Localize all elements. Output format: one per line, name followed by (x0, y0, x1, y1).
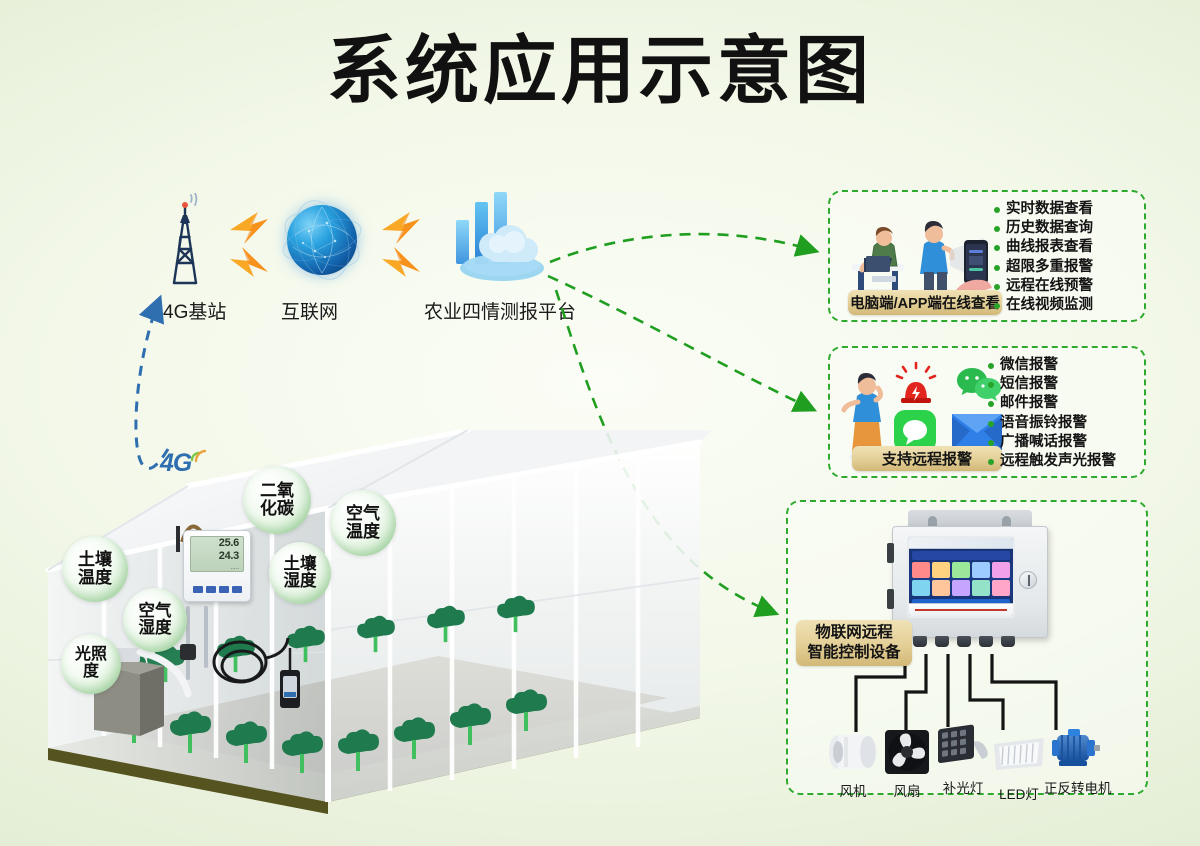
cloud-platform-icon (440, 190, 550, 288)
led-panel-icon (990, 730, 1048, 780)
device-led-light: LED灯 (990, 730, 1048, 803)
bolt-icon-4 (380, 245, 436, 281)
sensor-transmitter[interactable]: 25.6 24.3 ..... (183, 530, 251, 602)
sensor-bubble-air-temperature: 空气 温度 (330, 490, 396, 556)
link-label-text: 4G (160, 449, 191, 477)
people-illustration-laptop-phone (844, 206, 994, 302)
bullet-list-online-view: 实时数据查看 历史数据查询 曲线报表查看 超限多重报警 远程在线预警 在线视频监… (994, 200, 1136, 315)
axial-fan-icon (878, 727, 936, 777)
list-item: 曲线报表查看 (994, 238, 1136, 257)
iot-controller[interactable] (892, 510, 1048, 650)
controller-tile-grid[interactable] (909, 562, 1013, 596)
bubble-line-2: 化碳 (260, 500, 294, 518)
controller-body (892, 526, 1048, 638)
transmitter-buttons[interactable] (190, 586, 244, 593)
device-blower: 风机 (824, 727, 882, 800)
display-value-bottom: 24.3 (191, 550, 243, 563)
bubble-line-2: 温度 (78, 569, 112, 587)
flow-label-base-station: 4G基站 (163, 297, 226, 324)
panel-online-view: 电脑端/APP端在线查看 实时数据查看 历史数据查询 曲线报表查看 超限多重报警… (828, 190, 1146, 322)
sensor-bubble-soil-temperature: 土壤 温度 (62, 536, 128, 602)
bolt-icon-3 (380, 210, 436, 246)
device-label: 风机 (824, 780, 882, 800)
transmitter-display: 25.6 24.3 ..... (190, 536, 244, 572)
list-item: 广播喊话报警 (988, 433, 1140, 452)
bubble-line-2: 度 (75, 664, 107, 681)
sensor-bubble-carbon-dioxide: 二氧 化碳 (243, 466, 311, 534)
list-item: 邮件报警 (988, 394, 1140, 413)
sensor-bubble-air-humidity: 空气 湿度 (123, 588, 187, 652)
cell-tower-icon (150, 193, 220, 285)
device-label: 正反转电机 (1044, 777, 1102, 797)
badge-online-view: 电脑端/APP端在线查看 (848, 290, 1002, 315)
bolt-icon-2 (228, 245, 284, 281)
alarm-siren-icon (894, 362, 938, 404)
panel-remote-alarm: 支持远程报警 微信报警 短信报警 邮件报警 语音振铃报警 广播喊话报警 远程触发… (828, 346, 1146, 478)
panel-iot-control: 物联网远程 智能控制设备 风机 (786, 500, 1148, 795)
list-item: 远程在线预警 (994, 277, 1136, 296)
list-item: 超限多重报警 (994, 258, 1136, 277)
sensor-bubble-soil-humidity: 土壤 湿度 (269, 542, 331, 604)
device-reversible-motor: 正反转电机 (1044, 724, 1102, 797)
list-item: 历史数据查询 (994, 219, 1136, 238)
device-grow-light: 补光灯 (934, 724, 992, 797)
bubble-line-1: 空气 (139, 603, 172, 620)
grow-light-icon (934, 724, 992, 774)
device-label: 补光灯 (934, 777, 992, 797)
device-fan: 风扇 (878, 727, 936, 800)
bubble-line-2: 湿度 (284, 573, 317, 590)
power-knob[interactable] (1019, 571, 1037, 589)
bubble-line-2: 湿度 (139, 620, 172, 637)
list-item: 语音振铃报警 (988, 414, 1140, 433)
signal-waves-icon (189, 447, 207, 463)
display-value-top: 25.6 (191, 537, 243, 550)
flow-label-internet: 互联网 (281, 297, 338, 324)
device-label: LED灯 (990, 783, 1048, 803)
bubble-line-1: 光照 (75, 647, 107, 664)
list-item: 在线视频监测 (994, 296, 1136, 315)
bolt-icon-1 (228, 210, 284, 246)
electric-motor-icon (1044, 724, 1102, 774)
badge-line-2: 智能控制设备 (807, 643, 900, 663)
bullet-list-remote-alarm: 微信报警 短信报警 邮件报警 语音振铃报警 广播喊话报警 远程触发声光报警 (988, 356, 1140, 471)
globe-icon (281, 199, 363, 281)
bubble-line-1: 土壤 (284, 556, 317, 573)
bubble-line-1: 二氧 (260, 482, 294, 500)
device-label: 风扇 (878, 780, 936, 800)
flow-label-platform: 农业四情测报平台 (424, 297, 576, 324)
bubble-line-1: 空气 (346, 505, 380, 523)
badge-remote-alarm: 支持远程报警 (852, 446, 1002, 471)
list-item: 远程触发声光报警 (988, 452, 1140, 471)
sensor-bubble-illuminance: 光照 度 (61, 634, 121, 694)
badge-iot-control: 物联网远程 智能控制设备 (796, 620, 912, 666)
list-item: 微信报警 (988, 356, 1140, 375)
bubble-line-2: 温度 (346, 523, 380, 541)
link-label-4g: 4G (160, 449, 191, 478)
page-title: 系统应用示意图 (0, 34, 1200, 108)
badge-line-1: 物联网远程 (815, 623, 893, 643)
duct-blower-icon (824, 727, 882, 777)
controller-touchscreen[interactable] (907, 536, 1015, 618)
list-item: 实时数据查看 (994, 200, 1136, 219)
bubble-line-1: 土壤 (78, 551, 112, 569)
list-item: 短信报警 (988, 375, 1140, 394)
